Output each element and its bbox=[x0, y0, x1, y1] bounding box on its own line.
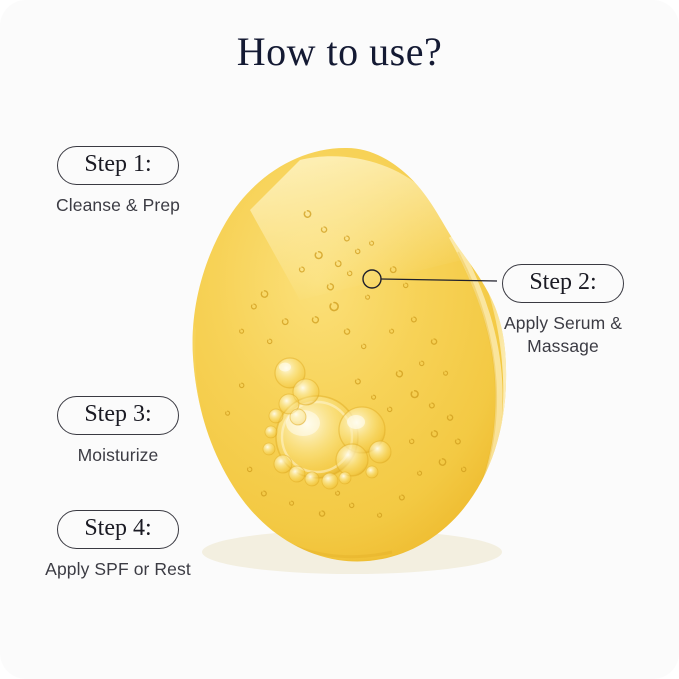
step-4-pill[interactable]: Step 4: bbox=[57, 510, 178, 549]
step-3-pill[interactable]: Step 3: bbox=[57, 396, 178, 435]
step-1-sublabel: Cleanse & Prep bbox=[20, 194, 216, 216]
step-3-block[interactable]: Step 3: Moisturize bbox=[20, 396, 216, 467]
step-4-block[interactable]: Step 4: Apply SPF or Rest bbox=[12, 510, 224, 581]
step-4-sublabel: Apply SPF or Rest bbox=[12, 558, 224, 580]
step-1-pill[interactable]: Step 1: bbox=[57, 146, 178, 185]
step-1-block[interactable]: Step 1: Cleanse & Prep bbox=[20, 146, 216, 217]
step-2-pill[interactable]: Step 2: bbox=[502, 264, 623, 303]
step-2-block[interactable]: Step 2: Apply Serum & Massage bbox=[488, 264, 638, 357]
page-title: How to use? bbox=[0, 28, 679, 75]
how-to-use-infographic: How to use? Step 1: Cleanse & Prep Step … bbox=[0, 0, 679, 679]
step-3-sublabel: Moisturize bbox=[20, 444, 216, 466]
step-2-sublabel: Apply Serum & Massage bbox=[488, 312, 638, 357]
